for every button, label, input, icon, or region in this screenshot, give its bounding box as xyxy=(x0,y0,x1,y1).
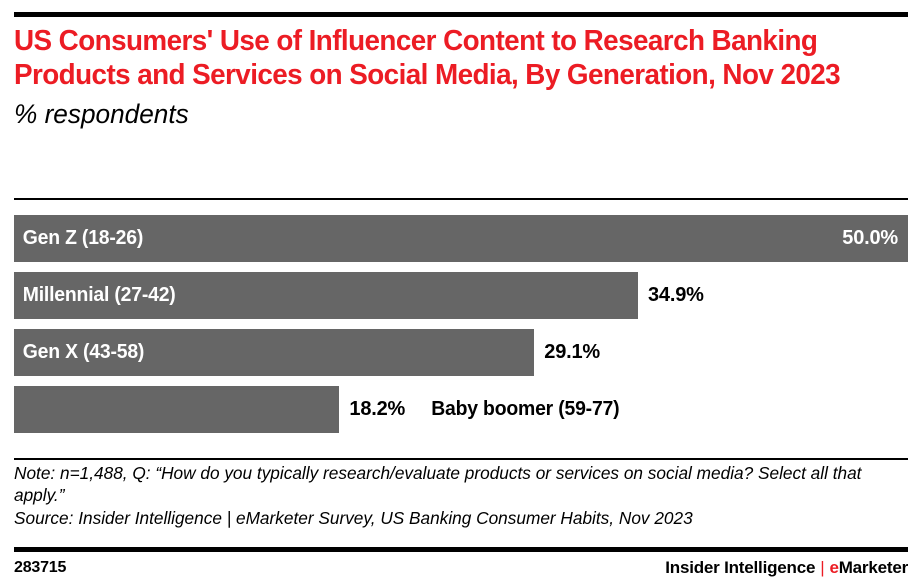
title-block: US Consumers' Use of Influencer Content … xyxy=(14,24,908,130)
chart-container: US Consumers' Use of Influencer Content … xyxy=(14,0,908,586)
bar-label: Millennial (27-42) xyxy=(14,284,176,307)
notes-block: Note: n=1,488, Q: “How do you typically … xyxy=(14,462,900,529)
note-divider xyxy=(14,458,908,460)
bar-value: 34.9% xyxy=(638,284,704,307)
chart-id: 283715 xyxy=(14,559,66,577)
bar-value: 29.1% xyxy=(534,341,600,364)
bottom-rule-divider xyxy=(14,547,908,552)
brand-lockup: Insider Intelligence | eMarketer xyxy=(665,558,908,578)
bar-baby-boomer xyxy=(14,386,339,433)
subtitle-divider xyxy=(14,198,908,200)
chart-note: Note: n=1,488, Q: “How do you typically … xyxy=(14,462,887,506)
chart-source: Source: Insider Intelligence | eMarketer… xyxy=(14,507,887,529)
brand-emarketer-rest: Marketer xyxy=(839,558,908,578)
bar-row: Gen X (43-58) 29.1% xyxy=(14,329,908,376)
brand-insider-intelligence: Insider Intelligence xyxy=(665,558,815,578)
brand-separator: | xyxy=(820,558,824,578)
bar-row: Millennial (27-42) 34.9% xyxy=(14,272,908,319)
bar-label: Gen Z (18-26) xyxy=(14,227,143,250)
bar-millennial: Millennial (27-42) xyxy=(14,272,638,319)
bar-label: Gen X (43-58) xyxy=(14,341,144,364)
footer: 283715 Insider Intelligence | eMarketer xyxy=(14,556,908,580)
bar-value: 50.0% xyxy=(842,227,908,250)
bar-gen-z: Gen Z (18-26) 50.0% xyxy=(14,215,908,262)
bar-gen-x: Gen X (43-58) xyxy=(14,329,534,376)
bar-row: Gen Z (18-26) 50.0% xyxy=(14,215,908,262)
chart-title: US Consumers' Use of Influencer Content … xyxy=(14,24,872,92)
bar-row: 18.2% Baby boomer (59-77) xyxy=(14,386,908,433)
bar-chart-plot-area: Gen Z (18-26) 50.0% Millennial (27-42) 3… xyxy=(14,215,908,451)
bar-label: Baby boomer (59-77) xyxy=(405,398,619,421)
chart-subtitle: % respondents xyxy=(14,98,881,130)
bar-value: 18.2% xyxy=(339,398,405,421)
top-rule-divider xyxy=(14,12,908,17)
brand-emarketer-e: e xyxy=(829,558,838,578)
